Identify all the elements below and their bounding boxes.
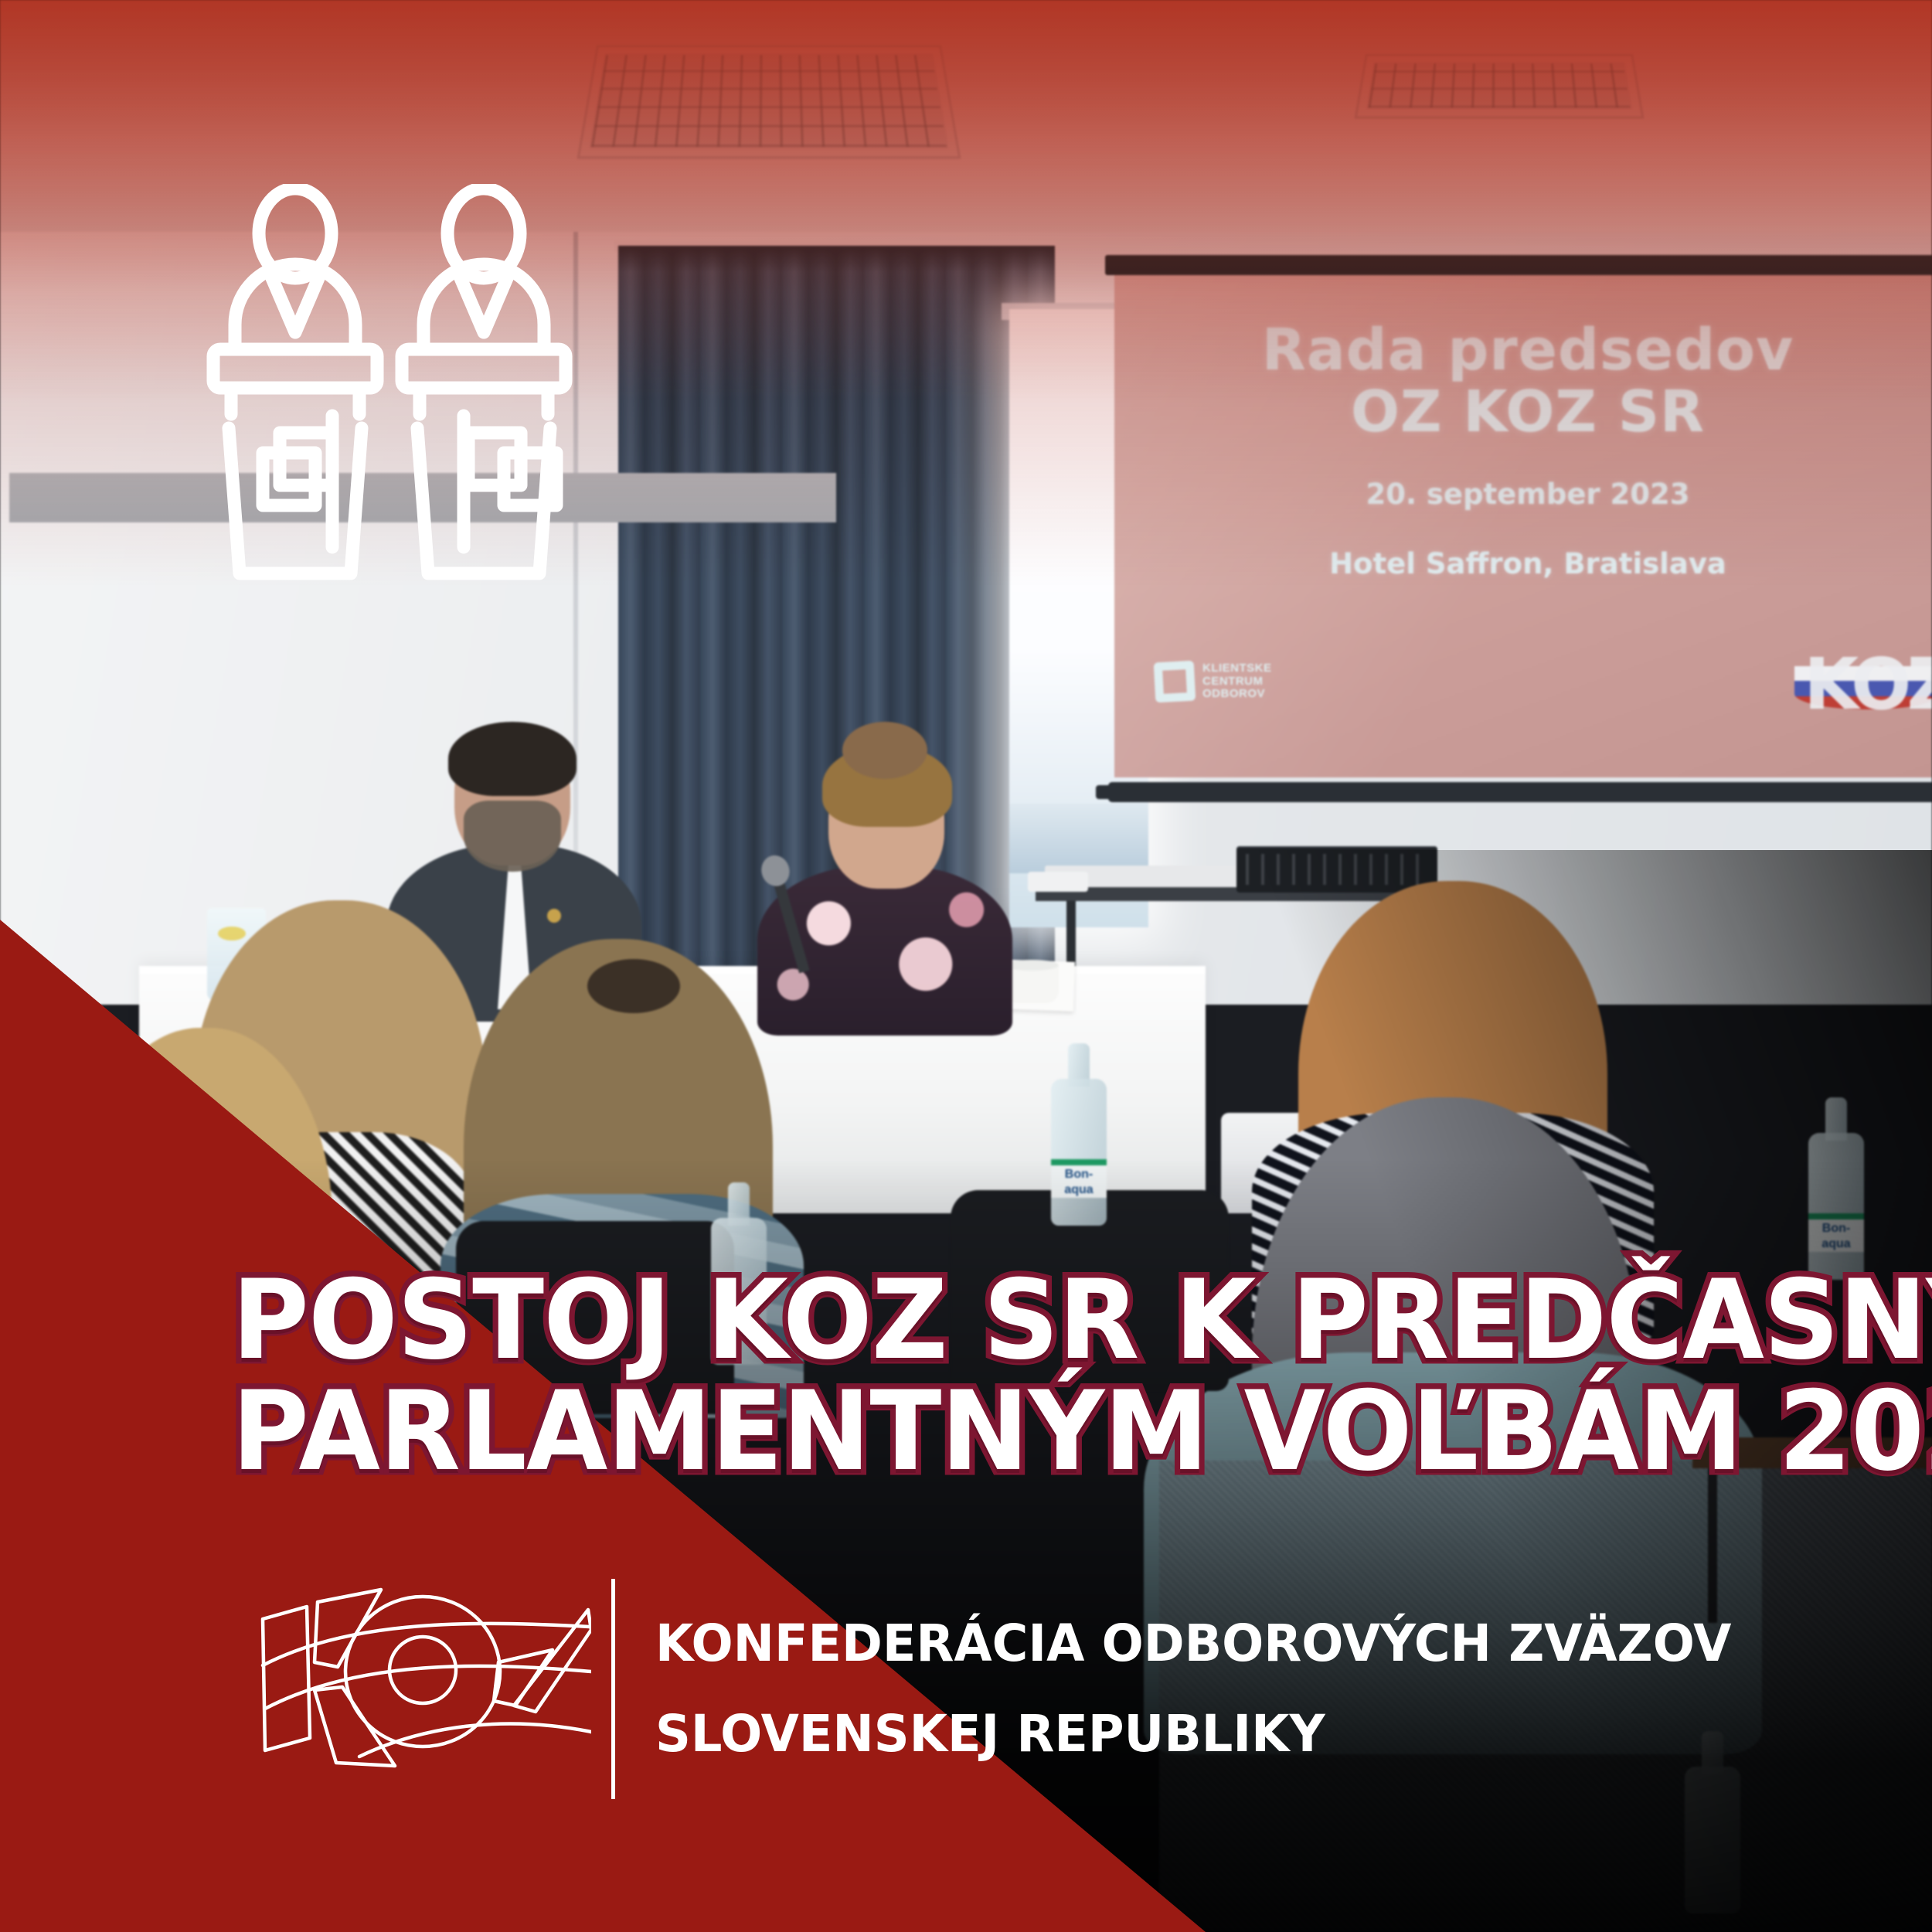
beard [464,801,561,872]
klientske-line2: CENTRUM [1202,675,1272,689]
slide-koz-text: KOZ [1804,643,1932,726]
bottle-label: Bon- aqua [1051,1159,1107,1198]
lapel-pin [547,909,561,923]
org-name-line-1: KONFEDERÁCIA ODBOROVÝCH ZVÄZOV [655,1598,1731,1689]
water-bottle: Bon-aqua [31,1692,124,1839]
debate-podium-icon [189,184,590,586]
headline-line-2: PARLAMENTNÝM VOĽBÁM 2023 [232,1379,1641,1485]
footer-branding: KONFEDERÁCIA ODBOROVÝCH ZVÄZOV SLOVENSKE… [243,1573,1770,1804]
hair-bun [842,722,927,779]
organization-name: KONFEDERÁCIA ODBOROVÝCH ZVÄZOV SLOVENSKE… [655,1598,1770,1780]
window-sky [1009,804,1148,873]
slide-title: Rada predsedov OZ KOZ SR [1114,320,1932,444]
ceiling-vent-icon [577,46,961,159]
bottle-label-line1: Bon- [1051,1165,1107,1181]
bottle-label-text: Bon-aqua [31,1747,124,1767]
bottle-label: Bon-aqua [31,1723,124,1773]
slide-logo-left-text: KLIENTSKE CENTRUM ODBOROV [1202,662,1272,701]
koz-logo [243,1573,591,1804]
frame-icon [1154,661,1196,703]
lemon-slice [218,927,246,940]
slide-venue: Hotel Saffron, Bratislava [1114,547,1932,580]
slide-logo-koz: KOZ [1794,638,1932,754]
audio-mixer [1236,846,1437,893]
slide-title-line2: OZ KOZ SR [1351,379,1705,445]
coffee-cup [1005,966,1059,1003]
bottle-label-line2: aqua [1051,1181,1107,1196]
bottle-label: Bon- aqua [1808,1213,1864,1252]
slide-surface: Rada predsedov OZ KOZ SR 20. september 2… [1114,275,1932,777]
projection-screen: Rada predsedov OZ KOZ SR 20. september 2… [1105,255,1932,796]
slide-logo-klientske-centrum: KLIENTSKE CENTRUM ODBOROV [1155,662,1272,702]
microphone-base [1028,872,1088,892]
screen-case [1105,255,1932,275]
bottle-body [1051,1079,1107,1226]
label-green-band [31,1723,124,1750]
fingernail [348,1861,382,1889]
klientske-line1: KLIENTSKE [1202,662,1272,675]
headline-line-1: POSTOJ KOZ SR K PREDČASNÝM [232,1267,1641,1374]
poster-canvas: Rada predsedov OZ KOZ SR 20. september 2… [0,0,1932,1932]
panelist-woman [757,742,1012,1012]
bottle-label-line2: aqua [1808,1235,1864,1250]
hair [448,722,577,796]
footer-divider [611,1579,615,1799]
ceiling-vent-icon [1355,54,1645,118]
hair-tie [587,959,680,1013]
slide-date: 20. september 2023 [1114,478,1932,511]
org-name-line-2: SLOVENSKEJ REPUBLIKY [655,1689,1731,1779]
klientske-line3: ODBOROV [1202,688,1272,701]
bottle-label-line1: Bon- [1808,1219,1864,1235]
headline: POSTOJ KOZ SR K PREDČASNÝM PARLAMENTNÝM … [232,1267,1700,1485]
screen-bottom-bar [1108,782,1932,802]
slide-title-line1: Rada predsedov [1262,317,1794,383]
